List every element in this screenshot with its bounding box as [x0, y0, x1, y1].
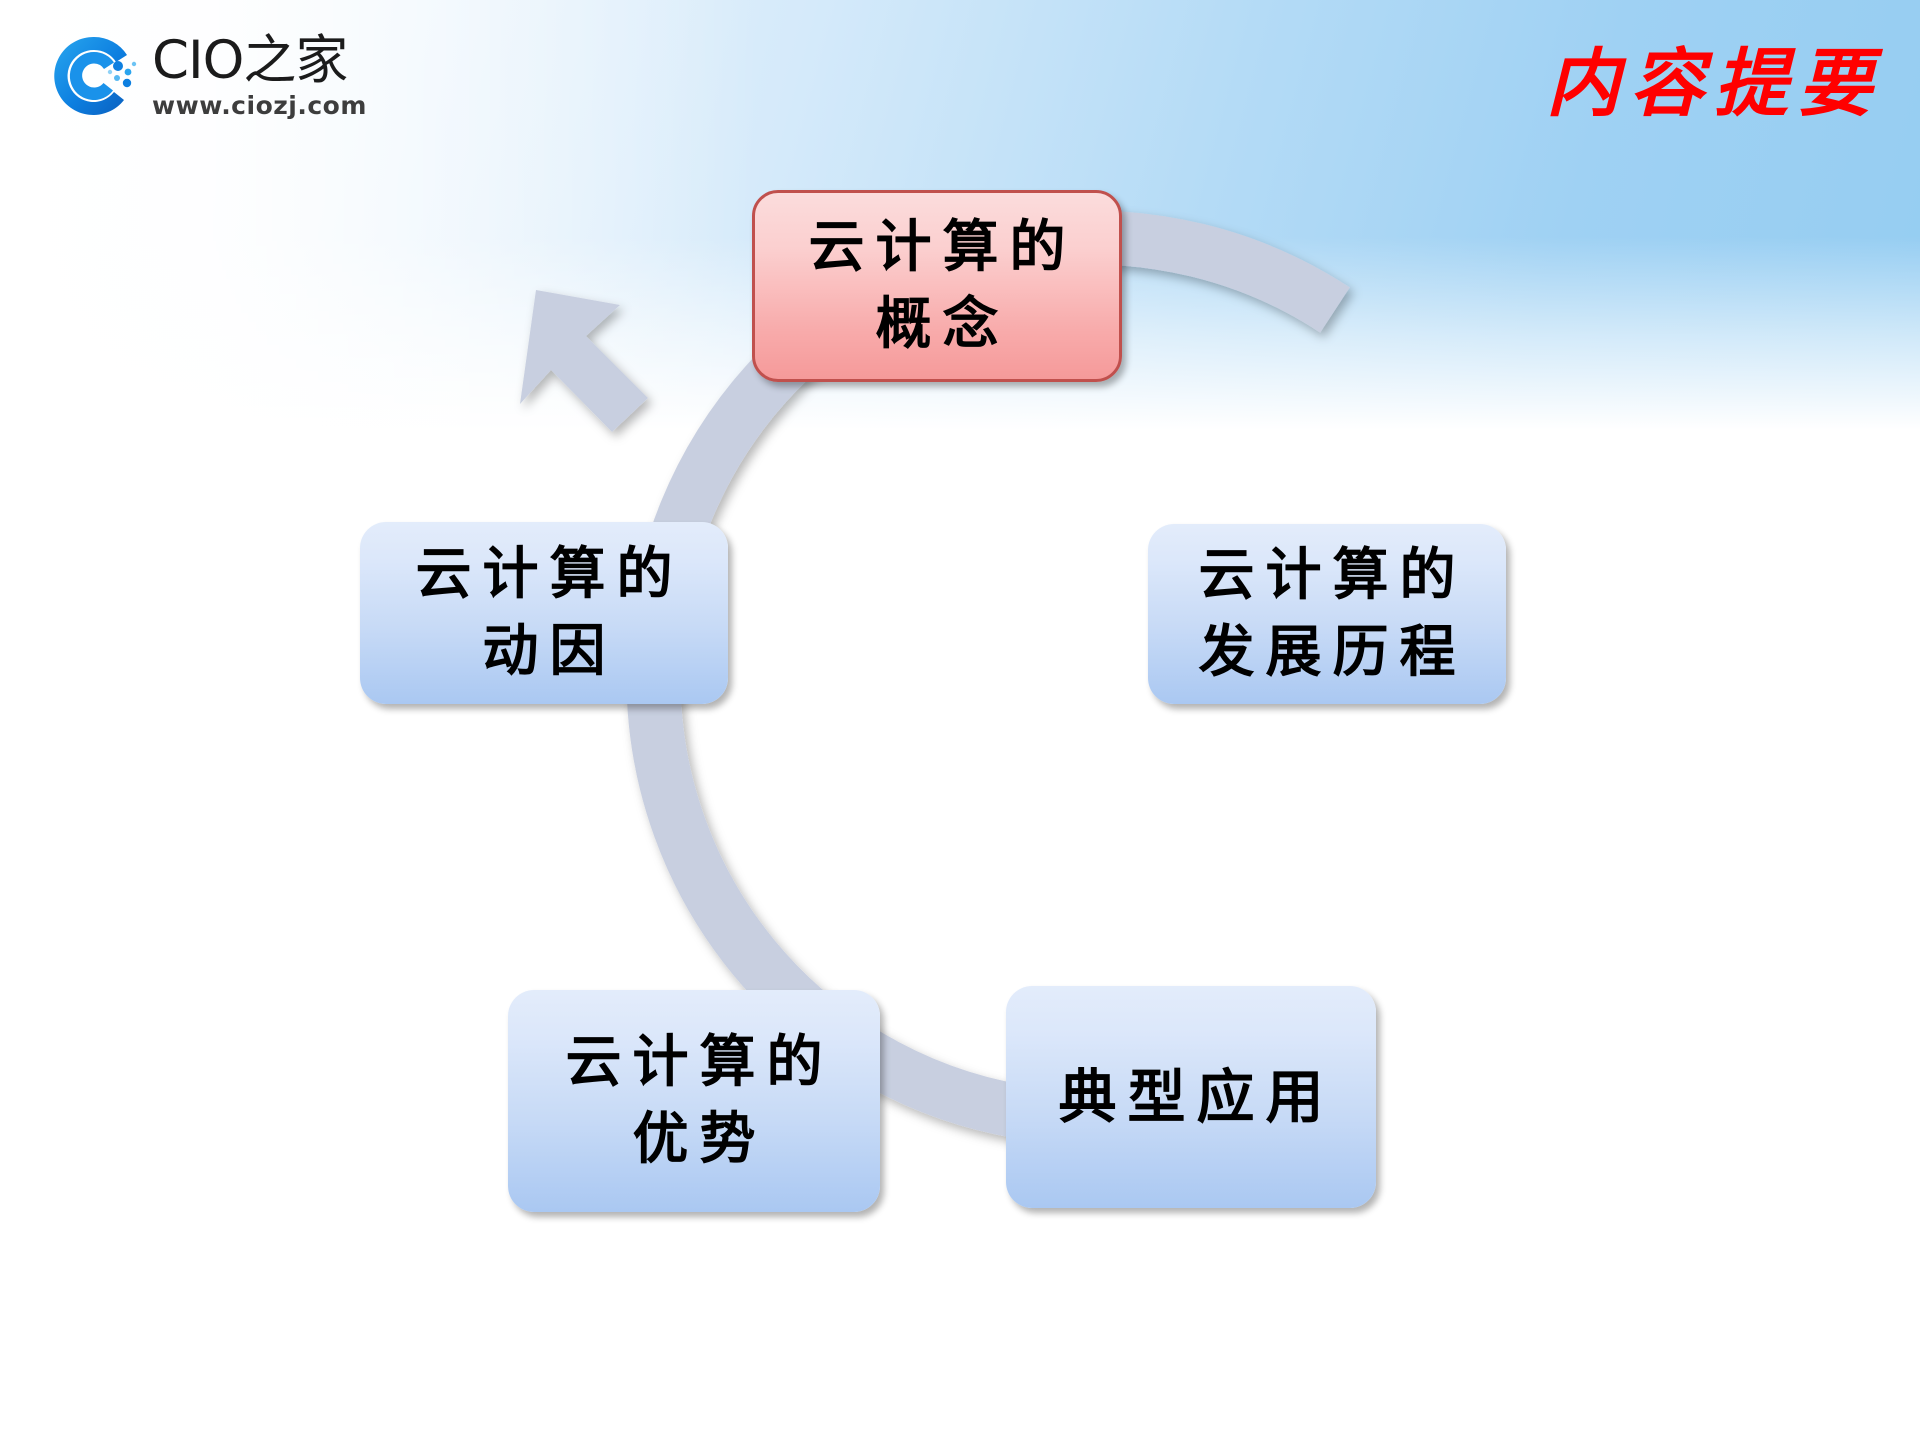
brand-logo-text: CIO之家 www.ciozj.com: [152, 34, 367, 118]
cycle-node-history-line-1: 云计算的: [1188, 537, 1467, 614]
cycle-node-applications-line-1: 典型应用: [1047, 1057, 1334, 1137]
cycle-node-concept-line-1: 云计算的: [798, 209, 1077, 286]
cycle-node-advantages[interactable]: 云计算的 优势: [508, 990, 880, 1212]
cycle-node-history[interactable]: 云计算的 发展历程: [1148, 524, 1506, 704]
cycle-node-applications[interactable]: 典型应用: [1006, 986, 1376, 1208]
cycle-node-concept-line-2: 概念: [865, 286, 1010, 363]
cycle-node-motivation[interactable]: 云计算的 动因: [360, 522, 728, 704]
cio-circle-logo-icon: [48, 30, 140, 122]
brand-url: www.ciozj.com: [152, 93, 367, 118]
cycle-node-advantages-line-2: 优势: [622, 1101, 767, 1178]
cycle-node-history-line-2: 发展历程: [1188, 614, 1467, 691]
cycle-node-advantages-line-1: 云计算的: [555, 1024, 834, 1101]
slide-canvas: CIO之家 www.ciozj.com 内容提要 云计算的 概念 云计算的 发展…: [0, 0, 1920, 1440]
slide-title: 内容提要: [1546, 24, 1882, 131]
cycle-node-motivation-line-2: 动因: [472, 613, 617, 690]
cycle-arrow-head: [520, 290, 648, 432]
brand-name: CIO之家: [152, 34, 367, 87]
brand-logo: CIO之家 www.ciozj.com: [48, 22, 418, 130]
cycle-node-concept[interactable]: 云计算的 概念: [752, 190, 1122, 382]
cycle-node-motivation-line-1: 云计算的: [405, 536, 684, 613]
